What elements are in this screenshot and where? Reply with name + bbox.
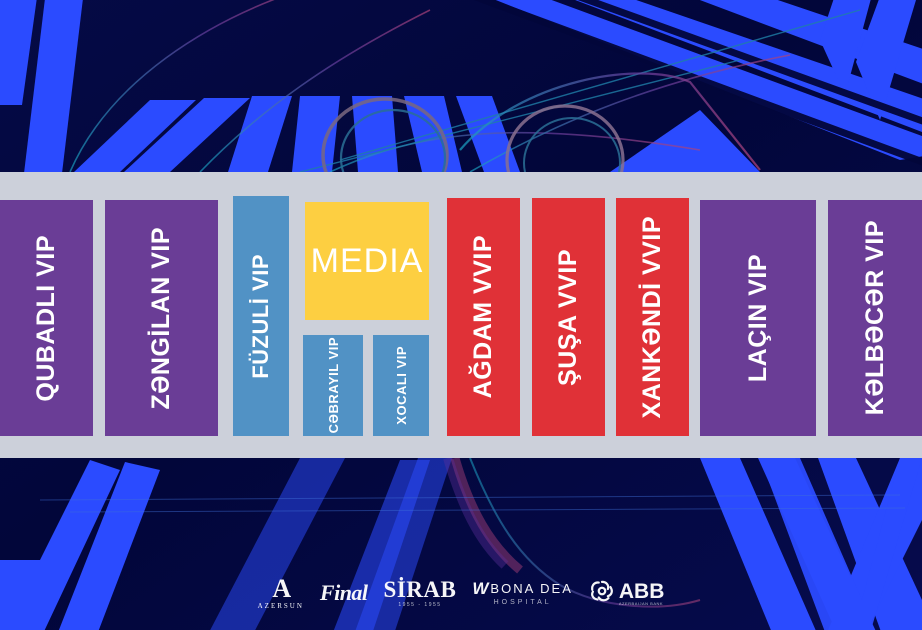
sirab-subtext: 1955 - 1955: [398, 603, 441, 608]
sector-label-susa-vvip: ŞUŞA VVIP: [556, 249, 581, 386]
azersun-wordmark: AZERSUN: [258, 603, 304, 610]
media-zone-label: MEDIA: [311, 242, 424, 281]
sponsor-logo-sirab: SİRAB 1955 - 1955: [384, 578, 457, 608]
sponsor-logo-abb: ABB AZERBAIJAN BANK: [589, 578, 665, 609]
sector-zengilan-vip[interactable]: ZƏNGİLAN VIP: [105, 200, 218, 436]
sponsor-bar: A AZERSUN Final SİRAB 1955 - 1955 W BONA…: [0, 570, 922, 616]
sector-xankendi-vvip[interactable]: XANKƏNDİ VVIP: [616, 198, 689, 436]
abb-subtext: AZERBAIJAN BANK: [619, 602, 665, 606]
sector-xocali-vip[interactable]: XOCALI VIP: [373, 335, 429, 436]
sector-agdam-vvip[interactable]: AĞDAM VVIP: [447, 198, 520, 436]
bona-dea-subtext: HOSPITAL: [494, 599, 552, 606]
sector-label-cebrayil-vip: CƏBRAYIL VIP: [327, 337, 340, 433]
sector-label-zengilan-vip: ZƏNGİLAN VIP: [149, 227, 174, 410]
media-zone[interactable]: MEDIA: [305, 202, 429, 320]
sector-label-xankendi-vvip: XANKƏNDİ VVIP: [640, 216, 665, 418]
sector-qubadli-vip[interactable]: QUBADLI VIP: [0, 200, 93, 436]
final-wordmark: Final: [320, 580, 368, 606]
bona-dea-mark-icon: W: [472, 580, 486, 597]
sector-label-xocali-vip: XOCALI VIP: [395, 346, 408, 425]
sector-kelbecer-vip[interactable]: KƏLBƏCƏR VIP: [828, 200, 922, 436]
bona-dea-wordmark: BONA DEA: [490, 582, 572, 595]
seating-map-graphic: QUBADLI VIPZƏNGİLAN VIPFÜZULİ VIPCƏBRAYI…: [0, 0, 922, 630]
sponsor-logo-azersun: A AZERSUN: [258, 576, 304, 610]
sector-cebrayil-vip[interactable]: CƏBRAYIL VIP: [303, 335, 363, 436]
sponsor-logo-bona-dea: W BONA DEA HOSPITAL: [472, 580, 573, 606]
sector-label-fuzuli-vip: FÜZULİ VIP: [250, 254, 272, 379]
sector-label-qubadli-vip: QUBADLI VIP: [34, 235, 59, 402]
sector-label-kelbecer-vip: KƏLBƏCƏR VIP: [863, 220, 888, 415]
sector-label-agdam-vvip: AĞDAM VVIP: [471, 235, 496, 398]
abb-wordmark: ABB: [619, 581, 665, 602]
sirab-wordmark: SİRAB: [384, 578, 457, 601]
azersun-mark-icon: A: [272, 576, 289, 602]
sector-lacin-vip[interactable]: LAÇIN VIP: [700, 200, 816, 436]
sector-susa-vvip[interactable]: ŞUŞA VVIP: [532, 198, 605, 436]
sector-label-lacin-vip: LAÇIN VIP: [746, 254, 771, 382]
abb-flower-icon: [589, 578, 615, 609]
sector-fuzuli-vip[interactable]: FÜZULİ VIP: [233, 196, 289, 436]
sponsor-logo-final: Final: [320, 580, 368, 606]
